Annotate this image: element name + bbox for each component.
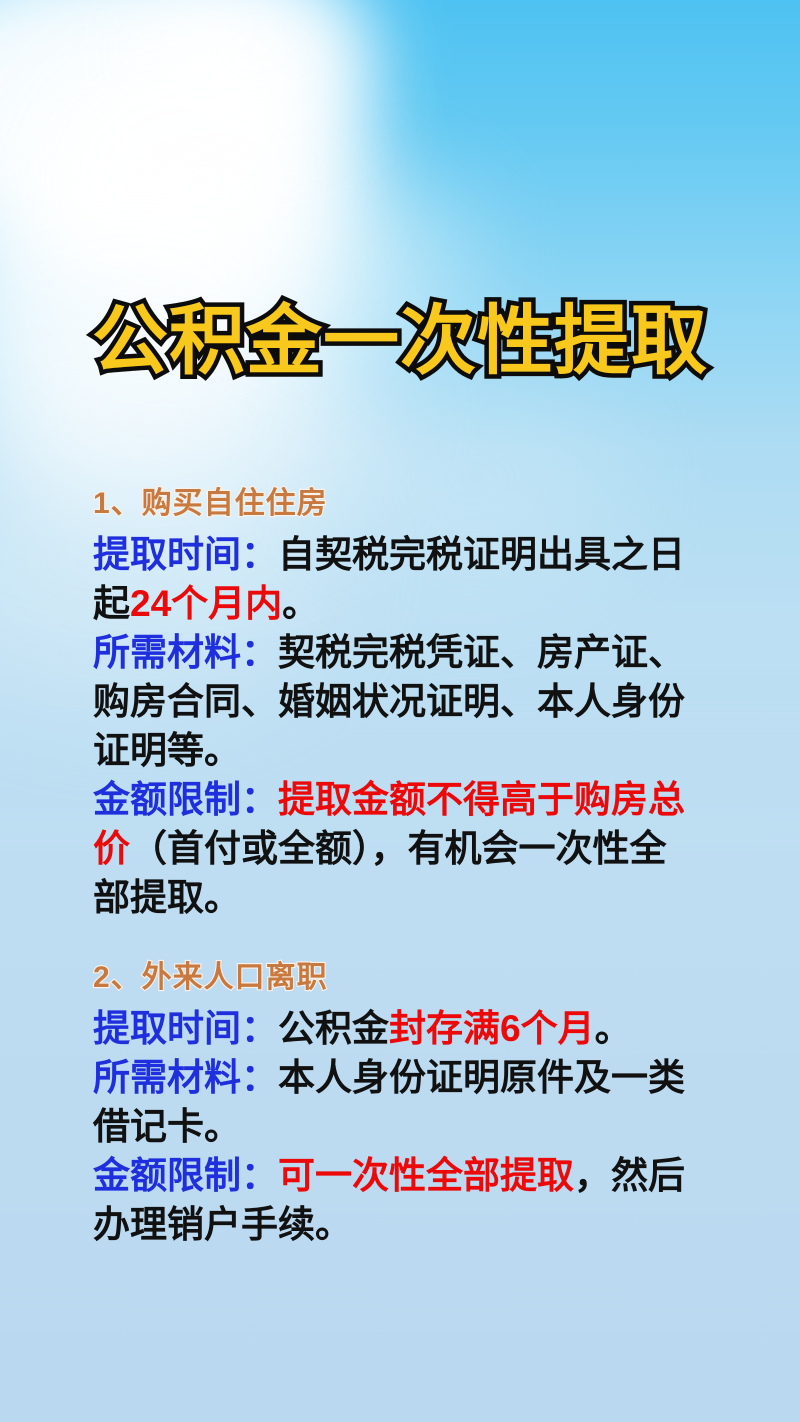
- content-section: 2、外来人口离职提取时间：公积金封存满6个月。所需材料：本人身份证明原件及一类借…: [93, 956, 701, 1249]
- info-row-text: 。: [595, 1008, 632, 1049]
- info-row: 提取时间：自契税完税证明出具之日起24个月内。: [93, 530, 701, 628]
- section-heading: 2、外来人口离职: [93, 956, 701, 1000]
- poster-canvas: 公积金一次性提取 1、购买自住住房提取时间：自契税完税证明出具之日起24个月内。…: [0, 0, 800, 1422]
- info-row: 所需材料：本人身份证明原件及一类借记卡。: [93, 1053, 701, 1151]
- info-row-label: 所需材料：: [93, 1057, 278, 1098]
- info-row-label: 所需材料：: [93, 632, 278, 673]
- section-heading: 1、购买自住住房: [93, 482, 701, 526]
- title-container: 公积金一次性提取: [0, 296, 800, 388]
- cloud-decoration: [30, 40, 360, 320]
- info-row: 金额限制：提取金额不得高于购房总价（首付或全额），有机会一次性全部提取。: [93, 775, 701, 922]
- info-row-text: 公积金: [278, 1008, 389, 1049]
- cloud-decoration: [0, 0, 340, 270]
- highlighted-text: 封存满6个月: [389, 1008, 595, 1049]
- info-row-label: 金额限制：: [93, 1155, 278, 1196]
- info-row: 所需材料：契税完税凭证、房产证、购房合同、婚姻状况证明、本人身份证明等。: [93, 628, 701, 775]
- highlighted-text: 可一次性全部提取: [278, 1155, 574, 1196]
- highlighted-text: 24个月内: [130, 583, 282, 624]
- content-body: 1、购买自住住房提取时间：自契税完税证明出具之日起24个月内。所需材料：契税完税…: [93, 482, 701, 1249]
- info-row: 金额限制：可一次性全部提取，然后办理销户手续。: [93, 1151, 701, 1249]
- info-row-text: 。: [282, 583, 319, 624]
- info-row-label: 提取时间：: [93, 534, 278, 575]
- content-section: 1、购买自住住房提取时间：自契税完税证明出具之日起24个月内。所需材料：契税完税…: [93, 482, 701, 922]
- info-row-label: 金额限制：: [93, 779, 278, 820]
- info-row: 提取时间：公积金封存满6个月。: [93, 1004, 701, 1053]
- info-row-text: （首付或全额），有机会一次性全部提取。: [93, 828, 667, 918]
- cloud-decoration: [150, 0, 370, 140]
- info-row-label: 提取时间：: [93, 1008, 278, 1049]
- page-title: 公积金一次性提取: [92, 296, 708, 388]
